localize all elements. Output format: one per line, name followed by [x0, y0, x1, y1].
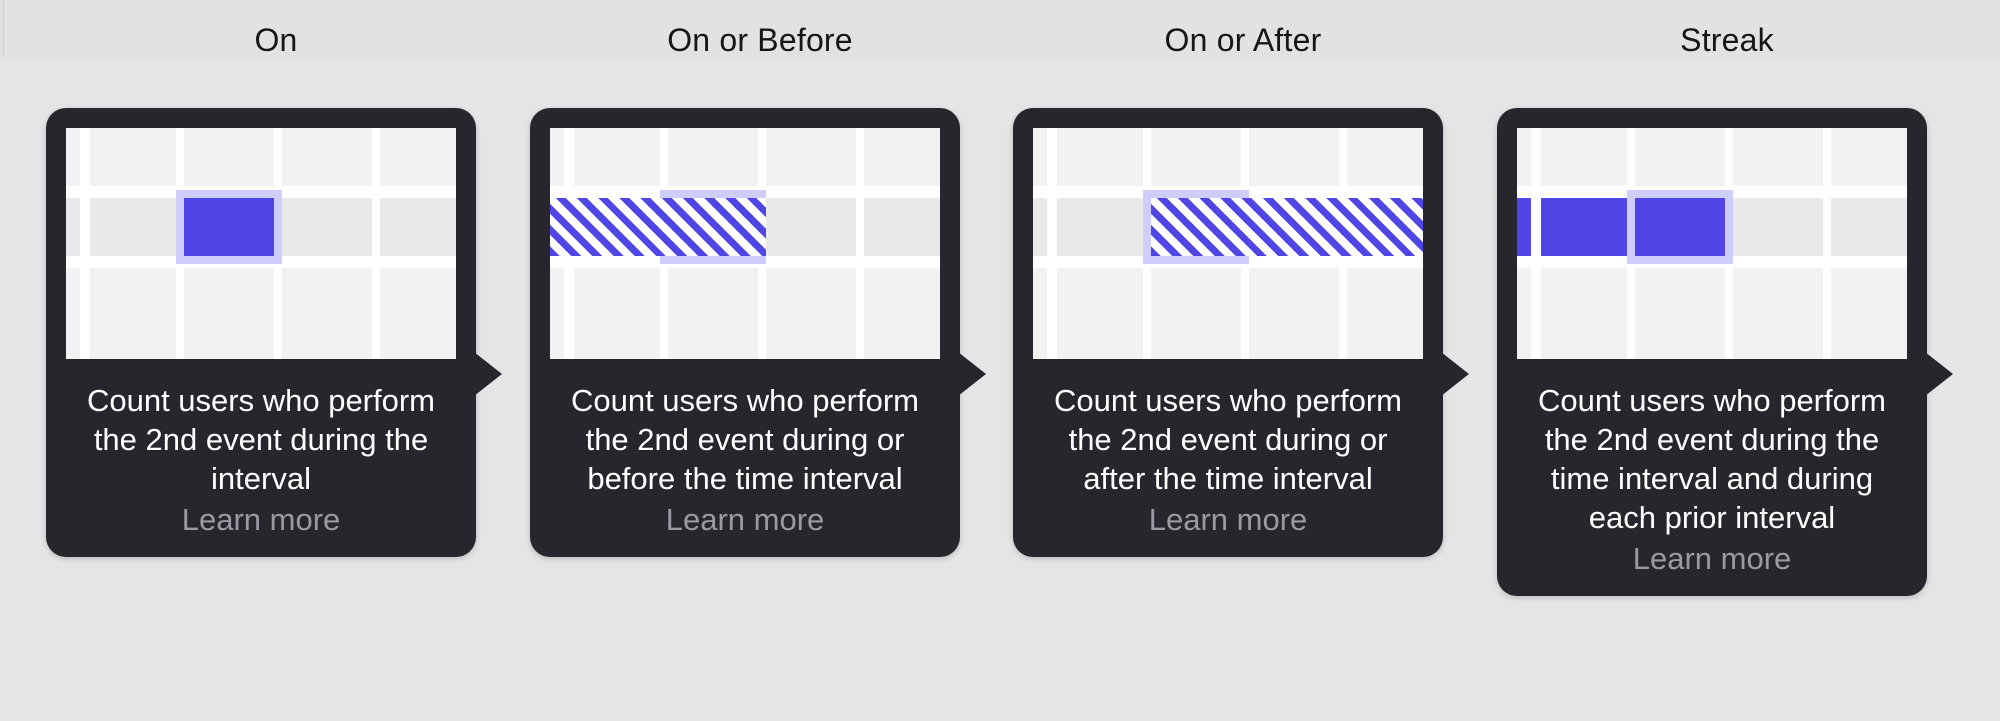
grid-cell	[1635, 128, 1725, 186]
learn-more-link[interactable]: Learn more	[1523, 539, 1901, 578]
grid-cell	[1541, 128, 1627, 186]
grid-cell	[668, 128, 758, 186]
grid-cell	[90, 198, 176, 256]
solid-interval-mark	[1635, 198, 1725, 256]
column-header: On or Before	[510, 22, 1010, 59]
grid-cell	[66, 268, 80, 359]
interval-grid-illustration	[1517, 128, 1907, 359]
info-card[interactable]: Count users who perform the 2nd event du…	[530, 108, 960, 557]
interval-grid-illustration	[1033, 128, 1423, 359]
comparison-board: OnCount users who perform the 2nd event …	[0, 0, 2000, 721]
card-pointer-tail	[474, 352, 502, 396]
grid-cell	[1733, 128, 1823, 186]
grid-cell	[1517, 268, 1531, 359]
grid-cell	[282, 128, 372, 186]
grid-cell	[1831, 128, 1907, 186]
grid-cell	[1033, 268, 1047, 359]
column-header: Streak	[1477, 22, 1977, 59]
grid-cell	[550, 268, 564, 359]
grid-cell	[1831, 198, 1907, 256]
grid-cell	[90, 268, 176, 359]
grid-cell	[1057, 198, 1143, 256]
grid-cell	[380, 268, 456, 359]
grid-cell	[1057, 128, 1143, 186]
grid-cell	[1033, 198, 1047, 256]
interval-grid-illustration	[66, 128, 456, 359]
info-card[interactable]: Count users who perform the 2nd event du…	[46, 108, 476, 557]
interval-grid-illustration	[550, 128, 940, 359]
grid-cell	[864, 268, 940, 359]
card-description: Count users who perform the 2nd event du…	[1039, 381, 1417, 498]
grid-cell	[1635, 268, 1725, 359]
grid-cell	[282, 268, 372, 359]
grid-cell	[1249, 128, 1339, 186]
card-pointer-tail	[958, 352, 986, 396]
grid-cell	[1151, 128, 1241, 186]
solid-interval-mark	[184, 198, 274, 256]
learn-more-link[interactable]: Learn more	[556, 500, 934, 539]
grid-cell	[1517, 128, 1531, 186]
grid-cell	[668, 268, 758, 359]
grid-cell	[1733, 268, 1823, 359]
card-pointer-tail	[1441, 352, 1469, 396]
grid-cell	[574, 128, 660, 186]
grid-cell	[574, 268, 660, 359]
solid-interval-mark	[1541, 198, 1627, 256]
grid-cell	[1347, 128, 1423, 186]
grid-cell	[766, 268, 856, 359]
grid-cell	[766, 198, 856, 256]
grid-cell	[1057, 268, 1143, 359]
info-card[interactable]: Count users who perform the 2nd event du…	[1013, 108, 1443, 557]
grid-cell	[864, 198, 940, 256]
card-description: Count users who perform the 2nd event du…	[1523, 381, 1901, 537]
grid-cell	[864, 128, 940, 186]
grid-cell	[1733, 198, 1823, 256]
solid-interval-mark	[1517, 198, 1531, 256]
grid-cell	[380, 128, 456, 186]
grid-cell	[282, 198, 372, 256]
grid-cell	[184, 128, 274, 186]
card-description: Count users who perform the 2nd event du…	[556, 381, 934, 498]
learn-more-link[interactable]: Learn more	[1039, 500, 1417, 539]
column-header: On or After	[993, 22, 1493, 59]
grid-cell	[550, 128, 564, 186]
grid-cell	[1033, 128, 1047, 186]
grid-cell	[66, 128, 80, 186]
grid-cell	[380, 198, 456, 256]
card-description: Count users who perform the 2nd event du…	[72, 381, 450, 498]
column-header: On	[26, 22, 526, 59]
hatched-interval-mark	[1151, 198, 1423, 256]
grid-cell	[1249, 268, 1339, 359]
grid-cell	[766, 128, 856, 186]
grid-cell	[90, 128, 176, 186]
grid-cell	[66, 198, 80, 256]
card-pointer-tail	[1925, 352, 1953, 396]
grid-cell	[1831, 268, 1907, 359]
grid-cell	[1347, 268, 1423, 359]
grid-cell	[1151, 268, 1241, 359]
grid-cell	[1541, 268, 1627, 359]
grid-cell	[184, 268, 274, 359]
info-card[interactable]: Count users who perform the 2nd event du…	[1497, 108, 1927, 596]
hatched-interval-mark	[550, 198, 766, 256]
learn-more-link[interactable]: Learn more	[72, 500, 450, 539]
